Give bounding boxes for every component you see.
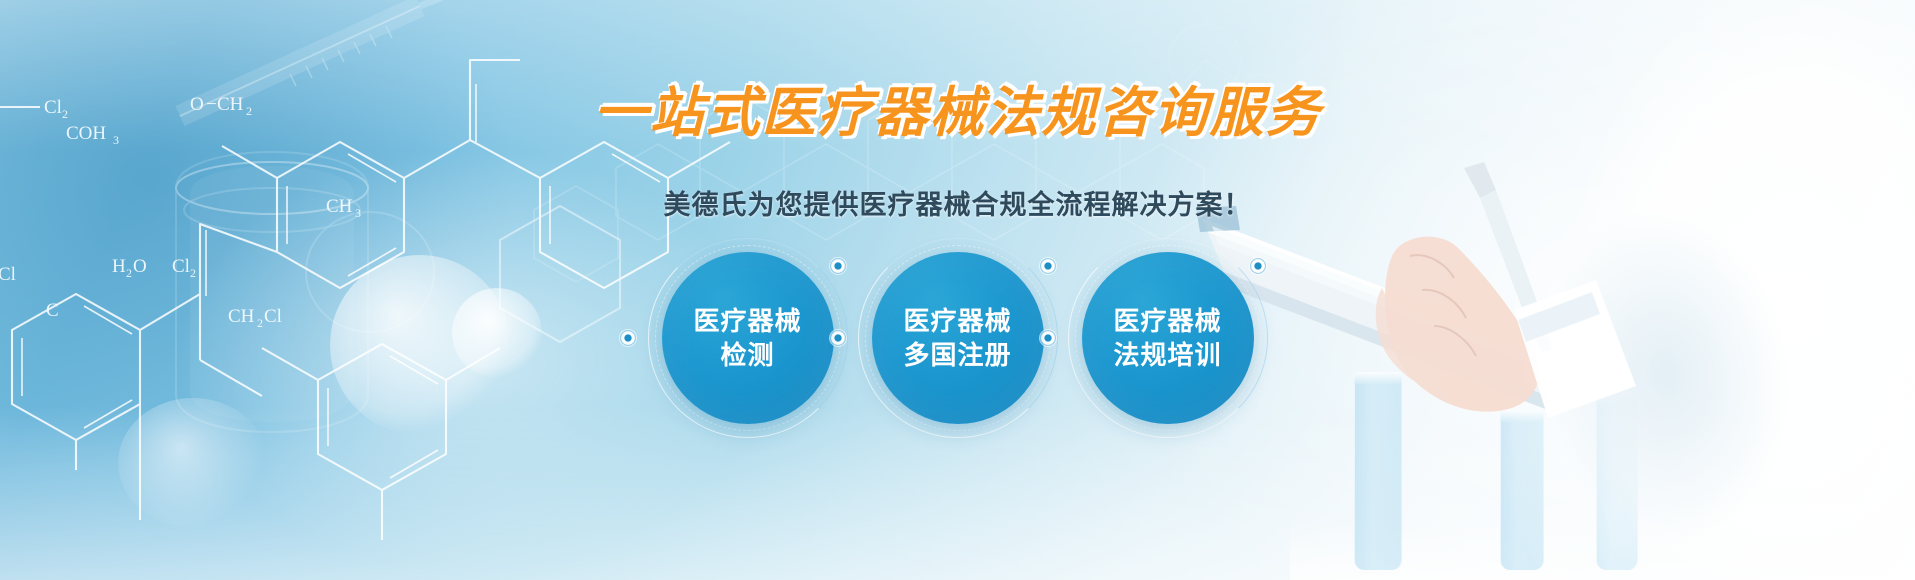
badge-connector-dot-icon bbox=[1040, 330, 1056, 346]
banner-headline: 一站式医疗器械法规咨询服务 bbox=[0, 86, 1915, 140]
badge-circle[interactable]: 医疗器械 法规培训 bbox=[1082, 252, 1254, 424]
badge-circle[interactable]: 医疗器械 多国注册 bbox=[872, 252, 1044, 424]
badge-accent-dot-icon bbox=[830, 258, 846, 274]
badge-accent-dot-icon bbox=[1040, 258, 1056, 274]
service-badge-group: 医疗器械 检测 医疗器械 多国注册 医疗器械 法规培训 bbox=[0, 252, 1915, 424]
badge-label-line1: 医疗器械 bbox=[693, 308, 801, 334]
badge-label-line2: 检测 bbox=[720, 342, 774, 368]
badge-label-line1: 医疗器械 bbox=[903, 308, 1011, 334]
badge-circle[interactable]: 医疗器械 检测 bbox=[662, 252, 834, 424]
hero-banner: Cl 2 COH 3 O − CH 2 Cl H 2 O Cl 2 C CH 2… bbox=[0, 0, 1915, 580]
badge-connector-dot-icon bbox=[830, 330, 846, 346]
service-badge-training[interactable]: 医疗器械 法规培训 bbox=[1082, 252, 1254, 424]
badge-connector-dot-icon bbox=[620, 330, 636, 346]
badge-label-line2: 多国注册 bbox=[903, 342, 1011, 368]
badge-label-line2: 法规培训 bbox=[1113, 342, 1221, 368]
banner-subheadline: 美德氏为您提供医疗器械合规全流程解决方案！ bbox=[0, 192, 1915, 219]
service-badge-testing[interactable]: 医疗器械 检测 bbox=[662, 252, 834, 424]
service-badge-registration[interactable]: 医疗器械 多国注册 bbox=[872, 252, 1044, 424]
badge-label-line1: 医疗器械 bbox=[1113, 308, 1221, 334]
badge-accent-dot-icon bbox=[1250, 258, 1266, 274]
